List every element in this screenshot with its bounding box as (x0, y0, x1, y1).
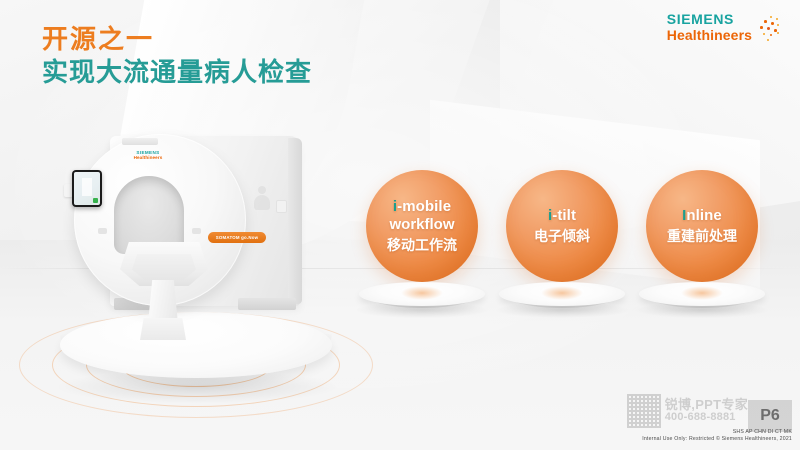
patient-table-pillar (148, 280, 178, 324)
feature-pedestal (359, 282, 485, 316)
tablet-display (74, 172, 100, 205)
logo-dots-icon (756, 15, 782, 41)
patient-silhouette-icon (254, 186, 270, 210)
feature-en-line-2: workflow (389, 216, 454, 234)
scanner-foot-right (238, 298, 296, 310)
feature-item-i-mobile[interactable]: i-mobile workflow 移动工作流 (352, 170, 492, 320)
feature-en-line-1: i-tilt (548, 207, 576, 225)
gantry-logo: SIEMENS Healthineers (124, 150, 172, 162)
scanner-housing-edge (288, 138, 302, 304)
feature-en-rest: nline (686, 207, 722, 224)
gantry-logo-subbrand: Healthineers (124, 155, 172, 160)
feature-sphere[interactable]: i-mobile workflow 移动工作流 (366, 170, 478, 282)
slide-canvas: 开源之一 实现大流通量病人检查 SIEMENS Healthineers (0, 0, 800, 450)
gantry-display-strip (122, 138, 158, 145)
page-number-badge: P6 (748, 400, 792, 432)
feature-sphere[interactable]: i-tilt 电子倾斜 (506, 170, 618, 282)
feature-cn-label: 电子倾斜 (534, 227, 590, 245)
qr-code-icon (627, 394, 661, 428)
pedestal-glow (401, 286, 443, 300)
feature-en-rest: -mobile (397, 198, 451, 215)
feature-cn-label: 移动工作流 (387, 236, 457, 254)
watermark: 锐博,PPT专家 400-688-8881 (627, 394, 748, 428)
feature-list: i-mobile workflow 移动工作流 i-tilt 电子倾斜 (352, 170, 772, 320)
siemens-healthineers-logo: SIEMENS Healthineers (667, 12, 782, 43)
feature-pedestal (639, 282, 765, 316)
feature-pedestal (499, 282, 625, 316)
feature-cn-label: 重建前处理 (667, 227, 737, 245)
feature-en-line-1: Inline (682, 207, 722, 225)
patient-table-inner (132, 254, 196, 280)
watermark-line-1: 锐博,PPT专家 (665, 398, 748, 412)
scanner-panel-square (276, 200, 287, 213)
gantry-knob-right (192, 228, 201, 234)
feature-item-inline[interactable]: Inline 重建前处理 (632, 170, 772, 320)
page-title: 开源之一 实现大流通量病人检查 (42, 24, 312, 88)
logo-subbrand-text: Healthineers (667, 28, 752, 43)
feature-sphere[interactable]: Inline 重建前处理 (646, 170, 758, 282)
feature-item-i-tilt[interactable]: i-tilt 电子倾斜 (492, 170, 632, 320)
gantry-knob-left (98, 228, 107, 234)
product-name-text: SOMATOM go.Now (216, 235, 258, 240)
pedestal-glow (541, 286, 583, 300)
footer-notes: SHS AP CHN DI CT MK Internal Use Only: R… (642, 429, 792, 442)
product-name-label: SOMATOM go.Now (208, 232, 266, 243)
patient-table-base (140, 318, 186, 340)
gantry-tablet-screen[interactable] (72, 170, 102, 207)
feature-en-rest: -tilt (552, 207, 576, 224)
logo-brand-text: SIEMENS (667, 12, 752, 27)
ct-scanner: SIEMENS Healthineers SOMATOM go.Now (62, 128, 322, 338)
title-line-1: 开源之一 (42, 24, 312, 55)
footer-line-2: Internal Use Only: Restricted © Siemens … (642, 436, 792, 443)
watermark-line-2: 400-688-8881 (665, 412, 748, 424)
ct-scanner-scene: SIEMENS Healthineers SOMATOM go.Now (28, 120, 358, 410)
page-number-text: P6 (760, 407, 780, 425)
pedestal-glow (681, 286, 723, 300)
feature-en-line-1: i-mobile (393, 198, 451, 216)
title-line-2: 实现大流通量病人检查 (42, 57, 312, 89)
